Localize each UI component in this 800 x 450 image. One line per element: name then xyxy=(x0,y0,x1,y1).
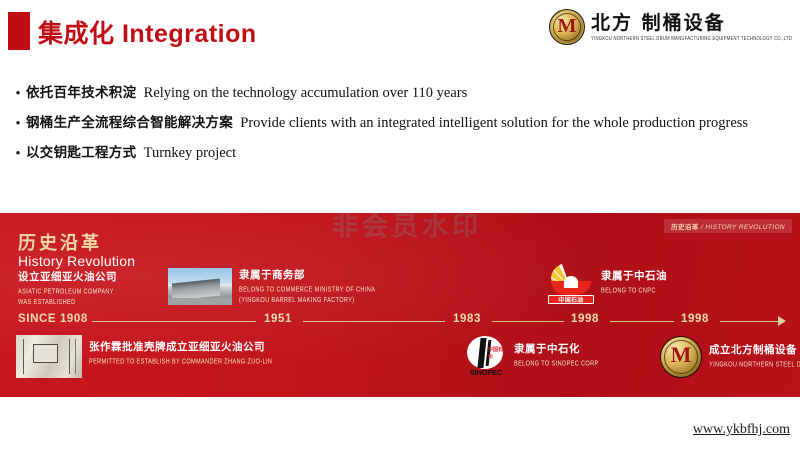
bullet-text: 依托百年技术积淀 Relying on the technology accum… xyxy=(26,84,467,102)
northern-medallion-logo: M xyxy=(660,336,702,378)
list-item: • 钢桶生产全流程综合智能解决方案 Provide clients with a… xyxy=(10,114,800,132)
bullet-text-en: Provide clients with an integrated intel… xyxy=(240,115,748,131)
history-item-cnpc: 中国石油 隶属于中石油 BELONG TO CNPC xyxy=(548,262,667,304)
history-item-title-zh: 张作霖批准壳牌成立亚细亚火油公司 xyxy=(89,341,272,355)
company-name-en: YINGKOU NORTHERN STEEL DRUM MANUFACTURIN… xyxy=(591,35,792,41)
slide-header: 集成化 Integration M 北方 制桶设备 YINGKOU NORTHE… xyxy=(0,0,800,62)
history-item-title-zh: 成立北方制桶设备 xyxy=(709,344,800,358)
cnpc-base-shape xyxy=(551,281,591,295)
page-title: 集成化 Integration xyxy=(38,14,257,50)
history-item-desc-en: BELONG TO SINOPEC CORP xyxy=(514,359,599,370)
list-item: • 依托百年技术积淀 Relying on the technology acc… xyxy=(10,84,800,102)
history-item-labels: 隶属于中石油 BELONG TO CNPC xyxy=(601,262,667,294)
medallion-icon: M xyxy=(660,336,702,378)
history-item-desc-line1: YINGKOU NORTHERN STEEL DRUM xyxy=(709,360,800,371)
history-item-desc-line1: BELONG TO SINOPEC CORP xyxy=(514,359,599,370)
history-item-desc-en: YINGKOU NORTHERN STEEL DRUM xyxy=(709,360,800,371)
history-panel-title-zh: 历史沿革 xyxy=(18,229,102,255)
bullet-text-en: Relying on the technology accumulation o… xyxy=(144,85,468,101)
sinopec-label-en: SINOPEC xyxy=(465,368,507,377)
timeline-arrow-icon xyxy=(778,316,786,326)
slide-root: 集成化 Integration M 北方 制桶设备 YINGKOU NORTHE… xyxy=(0,0,800,450)
history-item-desc-line1: PERMITTED TO ESTABLISH BY COMMANDER ZHAN… xyxy=(89,357,272,368)
bullet-text-zh: 钢桶生产全流程综合智能解决方案 xyxy=(26,115,233,131)
bullet-list: • 依托百年技术积淀 Relying on the technology acc… xyxy=(10,84,800,174)
bullet-text: 以交钥匙工程方式 Turnkey project xyxy=(26,144,236,162)
timeline-year-1998-a: 1998 xyxy=(571,313,599,325)
page-title-zh: 集成化 xyxy=(38,19,115,48)
history-item-labels: 张作霖批准壳牌成立亚细亚火油公司 PERMITTED TO ESTABLISH … xyxy=(89,335,272,365)
history-item-desc-en: ASIATIC PETROLEUM COMPANY WAS ESTABLISHE… xyxy=(18,287,117,308)
history-panel-tag: 历史沿革 / HISTORY REVOLUTION xyxy=(664,219,792,233)
page-title-en: Integration xyxy=(122,20,257,48)
history-item-desc-line2: WAS ESTABLISHED xyxy=(18,297,117,308)
history-item-labels: 隶属于商务部 BELONG TO COMMERCE MINISTRY OF CH… xyxy=(239,268,375,301)
history-item-labels: 成立北方制桶设备 YINGKOU NORTHERN STEEL DRUM xyxy=(709,336,800,368)
timeline-connector xyxy=(92,321,256,322)
history-timeline: SINCE 1908 1951 1983 1998 1998 xyxy=(0,313,800,331)
sinopec-label-zh: 中国石化 xyxy=(488,346,507,360)
bullet-text-zh: 以交钥匙工程方式 xyxy=(26,145,136,161)
timeline-year-1998-b: 1998 xyxy=(681,313,709,325)
bullet-marker: • xyxy=(10,146,26,159)
cnpc-logo: 中国石油 xyxy=(548,262,594,304)
history-panel-tag-en: HISTORY REVOLUTION xyxy=(705,224,785,231)
timeline-connector xyxy=(610,321,674,322)
history-item-title-zh: 隶属于中石油 xyxy=(601,270,667,284)
history-item-title-zh: 隶属于商务部 xyxy=(239,269,375,283)
bullet-text-en: Turnkey project xyxy=(144,145,237,161)
company-name-zh: 北方 制桶设备 xyxy=(591,14,792,34)
timeline-year-1951: 1951 xyxy=(264,313,292,325)
history-item-desc-line1: BELONG TO CNPC xyxy=(601,286,667,297)
bullet-text: 钢桶生产全流程综合智能解决方案 Provide clients with an … xyxy=(26,114,748,132)
history-item-title-zh: 隶属于中石化 xyxy=(514,343,599,357)
history-item-1908: 设立亚细亚火油公司 ASIATIC PETROLEUM COMPANY WAS … xyxy=(18,270,117,303)
medallion-letter: M xyxy=(671,344,692,366)
history-item-labels: 隶属于中石化 BELONG TO SINOPEC CORP xyxy=(514,335,599,367)
history-building-photo xyxy=(168,268,232,305)
history-panel-tag-zh: 历史沿革 xyxy=(671,223,699,231)
history-item-1951: 隶属于商务部 BELONG TO COMMERCE MINISTRY OF CH… xyxy=(168,268,375,305)
title-accent-block xyxy=(8,12,30,50)
history-item-desc-line1: ASIATIC PETROLEUM COMPANY xyxy=(18,287,117,298)
bullet-text-zh: 依托百年技术积淀 xyxy=(26,85,136,101)
company-logo-medallion-icon: M xyxy=(549,9,585,45)
cnpc-badge-label: 中国石油 xyxy=(548,295,594,304)
timeline-connector xyxy=(720,321,778,322)
history-item-desc-en: PERMITTED TO ESTABLISH BY COMMANDER ZHAN… xyxy=(89,357,272,368)
cnpc-logo-icon: 中国石油 xyxy=(548,262,594,304)
history-item-zhang-zuolin: 张作霖批准壳牌成立亚细亚火油公司 PERMITTED TO ESTABLISH … xyxy=(16,335,272,378)
history-panel: 历史沿革 / HISTORY REVOLUTION 历史沿革 History R… xyxy=(0,213,800,397)
timeline-year-1983: 1983 xyxy=(453,313,481,325)
document-thumbnail-icon xyxy=(16,335,82,378)
history-item-desc-en: BELONG TO COMMERCE MINISTRY OF CHINA (YI… xyxy=(239,285,375,306)
timeline-connector xyxy=(303,321,445,322)
timeline-year-1908: SINCE 1908 xyxy=(18,313,88,325)
history-panel-title-en: History Revolution xyxy=(18,253,135,269)
history-item-labels: 设立亚细亚火油公司 ASIATIC PETROLEUM COMPANY WAS … xyxy=(18,270,117,303)
timeline-connector xyxy=(492,321,564,322)
company-logo-wordmark: 北方 制桶设备 YINGKOU NORTHERN STEEL DRUM MANU… xyxy=(591,14,792,41)
history-item-desc-line2: (YINGKOU BARREL MAKING FACTORY) xyxy=(239,295,375,306)
medallion-letter: M xyxy=(558,16,577,36)
history-item-desc-line1: BELONG TO COMMERCE MINISTRY OF CHINA xyxy=(239,285,375,296)
company-logo: M 北方 制桶设备 YINGKOU NORTHERN STEEL DRUM MA… xyxy=(549,6,792,48)
history-item-northern-steel-drum: M 成立北方制桶设备 YINGKOU NORTHERN STEEL DRUM xyxy=(660,336,800,378)
history-item-title-zh: 设立亚细亚火油公司 xyxy=(18,271,117,285)
sinopec-logo: 中国石化 SINOPEC xyxy=(465,335,507,377)
building-thumbnail-icon xyxy=(168,268,232,305)
sinopec-logo-icon: 中国石化 SINOPEC xyxy=(465,335,507,377)
footer-website-url[interactable]: www.ykbfhj.com xyxy=(693,422,790,438)
history-item-desc-en: BELONG TO CNPC xyxy=(601,286,667,297)
history-document-photo xyxy=(16,335,82,378)
bullet-marker: • xyxy=(10,116,26,129)
bullet-marker: • xyxy=(10,86,26,99)
history-item-sinopec: 中国石化 SINOPEC 隶属于中石化 BELONG TO SINOPEC CO… xyxy=(465,335,599,377)
list-item: • 以交钥匙工程方式 Turnkey project xyxy=(10,144,800,162)
